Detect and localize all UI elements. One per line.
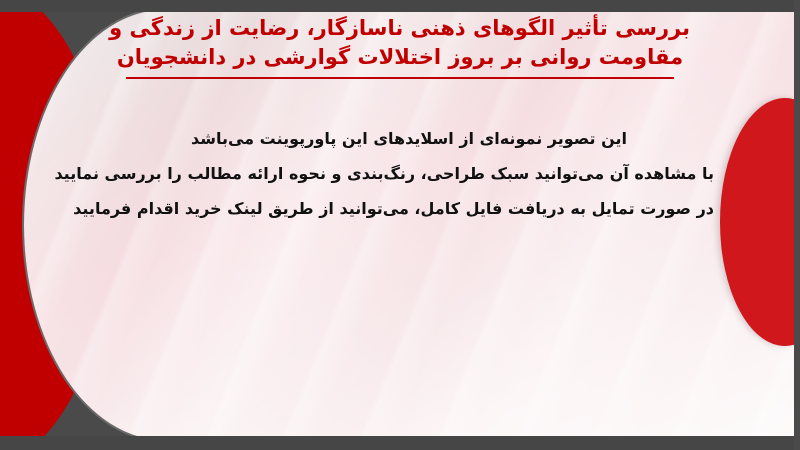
slide-title-line-1: بررسی تأثیر الگوهای ذهنی ناسازگار، رضایت…	[110, 14, 690, 43]
body-line-2: با مشاهده آن می‌توانید سبک طراحی، رنگ‌بن…	[104, 157, 714, 192]
right-red-ellipse-decoration	[720, 98, 794, 346]
title-underline-rule	[126, 77, 674, 79]
slide-body-text: این تصویر نمونه‌ای از اسلایدهای این پاور…	[104, 122, 714, 227]
slide-frame-right-band	[794, 0, 800, 450]
slide-frame-top-band	[0, 0, 800, 12]
body-line-3: در صورت تمایل به دریافت فایل کامل، می‌تو…	[104, 192, 714, 227]
slide-title-line-2: مقاومت روانی بر بروز اختلالات گوارشی در …	[110, 43, 690, 72]
slide-frame-bottom-band	[0, 436, 800, 450]
presentation-slide: بررسی تأثیر الگوهای ذهنی ناسازگار، رضایت…	[0, 0, 800, 450]
slide-title: بررسی تأثیر الگوهای ذهنی ناسازگار، رضایت…	[110, 14, 690, 79]
body-line-1: این تصویر نمونه‌ای از اسلایدهای این پاور…	[104, 122, 714, 157]
